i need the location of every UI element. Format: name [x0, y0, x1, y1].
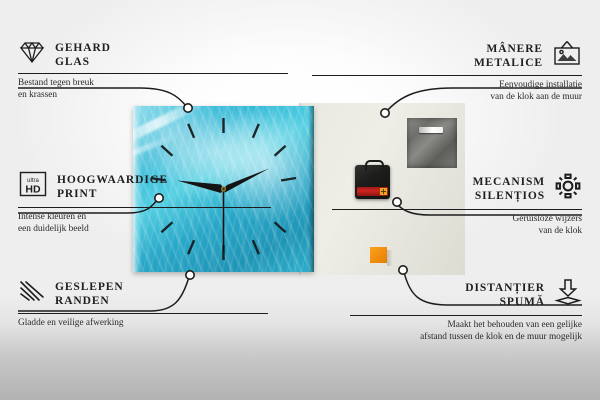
beveled-edges-icon: [18, 278, 46, 309]
picture-frame-icon: [552, 40, 582, 71]
feature-title-line1: DISTANȚIER: [465, 281, 545, 295]
diamond-icon: [18, 40, 46, 69]
feature-desc-line1: Eenvoudige installatie: [312, 80, 582, 92]
feature-title-line1: MÂNERE: [474, 42, 543, 56]
feature-rule: [18, 313, 268, 314]
feature-hoogwaardige-print[interactable]: ultra HD HOOGWAARDIGE PRINT Intense kleu…: [18, 170, 271, 235]
feature-desc-line2: en krassen: [18, 90, 288, 102]
feature-desc-line1: Maakt het behouden van een gelijke: [350, 320, 582, 332]
feature-mecanism-silentios[interactable]: MECANISM SILENȚIOS Geruisloze wijzers: [332, 172, 582, 237]
feature-title-line1: GESLEPEN: [55, 280, 124, 294]
feature-rule: [350, 315, 582, 316]
svg-text:HD: HD: [25, 184, 41, 196]
feature-title-line2: SILENȚIOS: [473, 189, 545, 203]
feature-distantier-spuma[interactable]: DISTANȚIER SPUMĂ Maakt het behouden van …: [350, 278, 582, 343]
spacer-arrow-icon: [554, 278, 582, 311]
feature-desc-line2: een duidelijk beeld: [18, 224, 271, 236]
foam-spacer: [370, 247, 387, 263]
feature-rule: [18, 207, 271, 208]
movement-hook: [365, 160, 384, 170]
gear-icon: [554, 172, 582, 205]
feature-desc-line2: afstand tussen de klok en de muur mogeli…: [350, 332, 582, 344]
glass-bevel-right: [308, 106, 314, 272]
feature-title-line2: RANDEN: [55, 294, 124, 308]
feature-manere-metalice[interactable]: MÂNERE METALICE Eenvoudige installatie v…: [312, 40, 582, 103]
feature-desc-line1: Geruisloze wijzers: [332, 214, 582, 226]
feature-title-line1: HOOGWAARDIGE: [57, 173, 168, 187]
feature-rule: [18, 73, 288, 74]
feature-title-line2: PRINT: [57, 187, 168, 201]
feature-desc-line1: Gladde en veilige afwerking: [18, 318, 268, 330]
feature-desc-line1: Intense kleuren en: [18, 212, 271, 224]
feature-desc-line2: van de klok: [332, 226, 582, 238]
feature-title-line2: SPUMĂ: [465, 295, 545, 309]
feature-gehard-glas[interactable]: GEHARD GLAS Bestand tegen breuk en krass…: [18, 40, 288, 101]
feature-geslepen-randen[interactable]: GESLEPEN RANDEN Gladde en veilige afwerk…: [18, 278, 268, 330]
feature-title-line2: GLAS: [55, 55, 111, 69]
feature-desc-line1: Bestand tegen breuk: [18, 78, 288, 90]
feature-title-line1: MECANISM: [473, 175, 545, 189]
feature-rule: [332, 209, 582, 210]
metal-hanger-plate: [407, 118, 457, 168]
feature-desc-line2: van de klok aan de muur: [312, 92, 582, 104]
feature-rule: [312, 75, 582, 76]
hanger-slot: [419, 127, 443, 133]
ultra-hd-icon: ultra HD: [18, 170, 48, 203]
feature-title-line2: METALICE: [474, 56, 543, 70]
feature-title-line1: GEHARD: [55, 41, 111, 55]
